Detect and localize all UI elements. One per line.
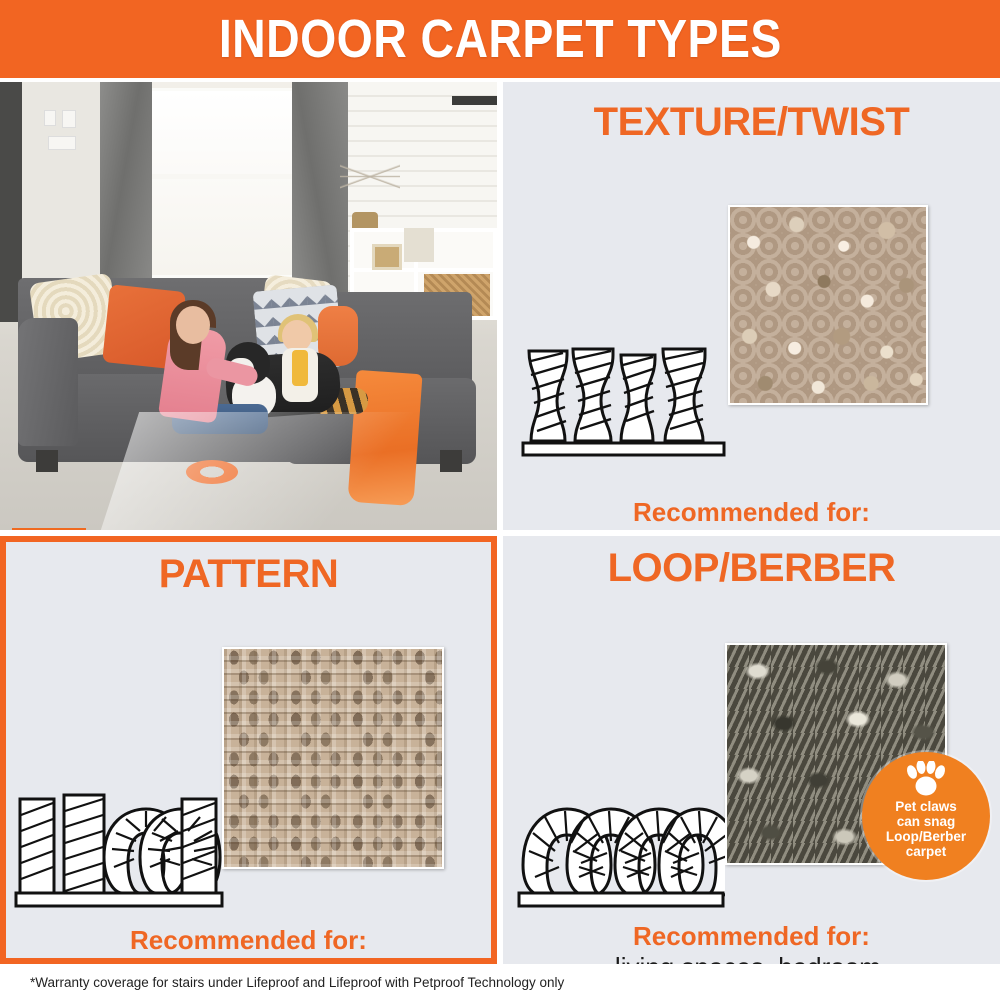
recommended-label: Recommended for:	[503, 921, 1000, 952]
pet-claws-warning-badge: Pet claws can snag Loop/Berber carpet	[862, 752, 990, 880]
panel-title-texture-twist: TEXTURE/TWIST	[503, 100, 1000, 145]
photo-curtain-left	[100, 82, 152, 292]
panel-loop-berber: LOOP/BERBER	[503, 536, 1000, 964]
photo-window	[148, 88, 298, 278]
cut-and-loop-pattern-diagram	[14, 787, 224, 912]
photo-outlet	[48, 136, 76, 150]
photo-picture-frame	[372, 244, 402, 270]
panel-living-room-photo: THE HOME DEPOT	[0, 82, 497, 530]
pet-badge-text: Pet claws can snag Loop/Berber carpet	[886, 799, 966, 859]
pattern-carpet-swatch	[222, 647, 444, 869]
photo-sunlight-highlight	[101, 412, 479, 530]
home-depot-logo: THE HOME DEPOT	[12, 528, 86, 530]
panel-title-loop-berber: LOOP/BERBER	[503, 546, 1000, 591]
recommended-text-line1: living spaces, bedroom,	[503, 952, 1000, 964]
texture-twist-carpet-swatch	[728, 205, 928, 405]
photo-branch-decor	[340, 138, 400, 214]
footer-bar: *Warranty coverage for stairs under Life…	[0, 964, 1000, 1000]
living-room-photo	[0, 82, 497, 530]
warranty-disclaimer: *Warranty coverage for stairs under Life…	[0, 975, 564, 990]
loop-berber-recommendation: Recommended for: living spaces, bedroom,…	[503, 921, 1000, 964]
recommended-label: Recommended for:	[6, 925, 491, 956]
pattern-recommendation: Recommended for: living spaces, bedroom,…	[6, 925, 491, 964]
photo-sofa-leg-left	[36, 450, 58, 472]
photo-thermostat	[62, 110, 76, 128]
photo-lamp	[404, 228, 434, 262]
photo-light-switch	[44, 110, 56, 126]
photo-window-mullion	[148, 174, 298, 179]
header-banner: INDOOR CARPET TYPES	[0, 0, 1000, 78]
recommended-text-line1: living spaces, bedroom,	[6, 956, 491, 964]
photo-woman-head	[176, 306, 210, 344]
panel-texture-twist: TEXTURE/TWIST	[503, 82, 1000, 530]
photo-child-shirt	[292, 350, 308, 386]
photo-sofa-arm	[18, 318, 78, 446]
infographic-root: INDOOR CARPET TYPES	[0, 0, 1000, 1000]
paw-print-icon	[905, 761, 947, 797]
panel-pattern: PATTERN	[0, 536, 497, 964]
page-title: INDOOR CARPET TYPES	[219, 8, 782, 70]
cut-pile-twist-diagram	[521, 335, 726, 460]
recommended-text: living spaces and bedrooms	[503, 528, 1000, 530]
loop-pile-diagram	[517, 799, 725, 911]
recommended-label: Recommended for:	[503, 497, 1000, 528]
panel-title-pattern: PATTERN	[6, 552, 491, 597]
texture-twist-recommendation: Recommended for: living spaces and bedro…	[503, 497, 1000, 530]
photo-floating-shelf	[452, 96, 497, 105]
